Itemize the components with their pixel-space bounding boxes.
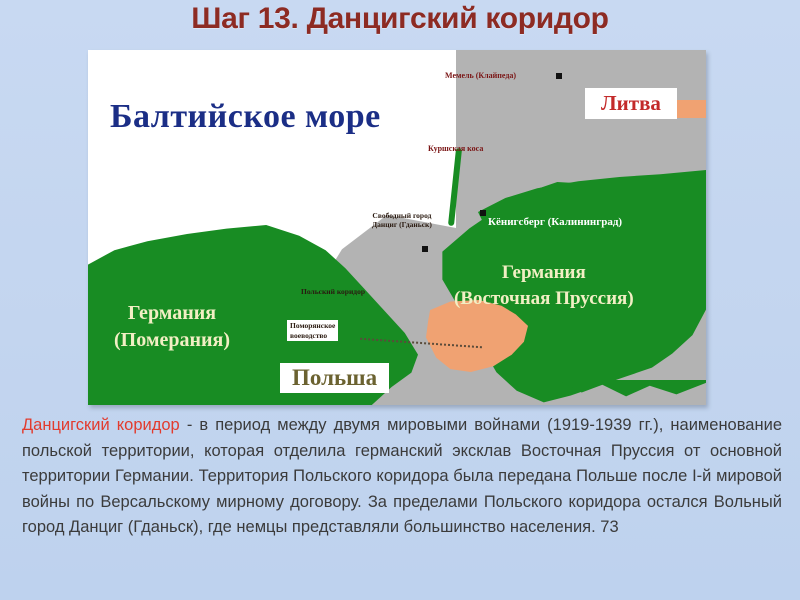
map-label-polish-corridor: Польский коридор bbox=[301, 287, 365, 296]
germany-pomerania-line-2: (Померания) bbox=[114, 327, 230, 354]
lead-term: Данцигский коридор bbox=[22, 416, 180, 434]
free-city-danzig-line-1: Свободный город bbox=[372, 211, 432, 220]
map-label-memel: Мемель (Клайпеда) bbox=[445, 71, 516, 80]
map-label-poland: Польша bbox=[280, 363, 389, 393]
map-label-konigsberg: Кёнигсберг (Калининград) bbox=[488, 216, 622, 228]
body-text-main: - в период между двумя мировыми войнами … bbox=[22, 416, 782, 536]
body-paragraph: Данцигский коридор - в период между двум… bbox=[22, 413, 782, 541]
slide-container: Шаг 13. Данцигский коридор Балтийское мо… bbox=[0, 0, 800, 600]
germany-pomerania-line-1: Германия bbox=[114, 300, 230, 327]
city-marker-memel bbox=[556, 73, 562, 79]
map-label-free-city-danzig: Свободный город Данциг (Гданьск) bbox=[372, 211, 432, 229]
city-marker-danzig bbox=[422, 246, 428, 252]
germany-east-prussia-line-1: Германия bbox=[454, 260, 634, 286]
baltic-sea-text: Балтийское море bbox=[110, 98, 381, 135]
germany-east-prussia-line-2: (Восточная Пруссия) bbox=[454, 286, 634, 312]
map-label-germany-east-prussia: Германия (Восточная Пруссия) bbox=[454, 260, 634, 312]
pomeranian-voivodeship-line-2: воеводство bbox=[290, 331, 335, 341]
page-number: 73 bbox=[600, 518, 618, 536]
page-title: Шаг 13. Данцигский коридор bbox=[0, 2, 800, 36]
map-label-baltic-sea: Балтийское море bbox=[110, 98, 381, 136]
free-city-danzig-line-2: Данциг (Гданьск) bbox=[372, 220, 432, 229]
map-label-curonian-spit: Куршская коса bbox=[428, 144, 483, 153]
map-label-pomeranian-voivodeship: Поморянское воеводство bbox=[287, 320, 338, 341]
map-image: Балтийское море Мемель (Клайпеда) Куршск… bbox=[88, 50, 706, 405]
map-label-germany-pomerania: Германия (Померания) bbox=[114, 300, 230, 354]
map-label-lithuania: Литва bbox=[585, 88, 677, 119]
pomeranian-voivodeship-line-1: Поморянское bbox=[290, 321, 335, 331]
city-marker-konigsberg bbox=[480, 210, 486, 216]
